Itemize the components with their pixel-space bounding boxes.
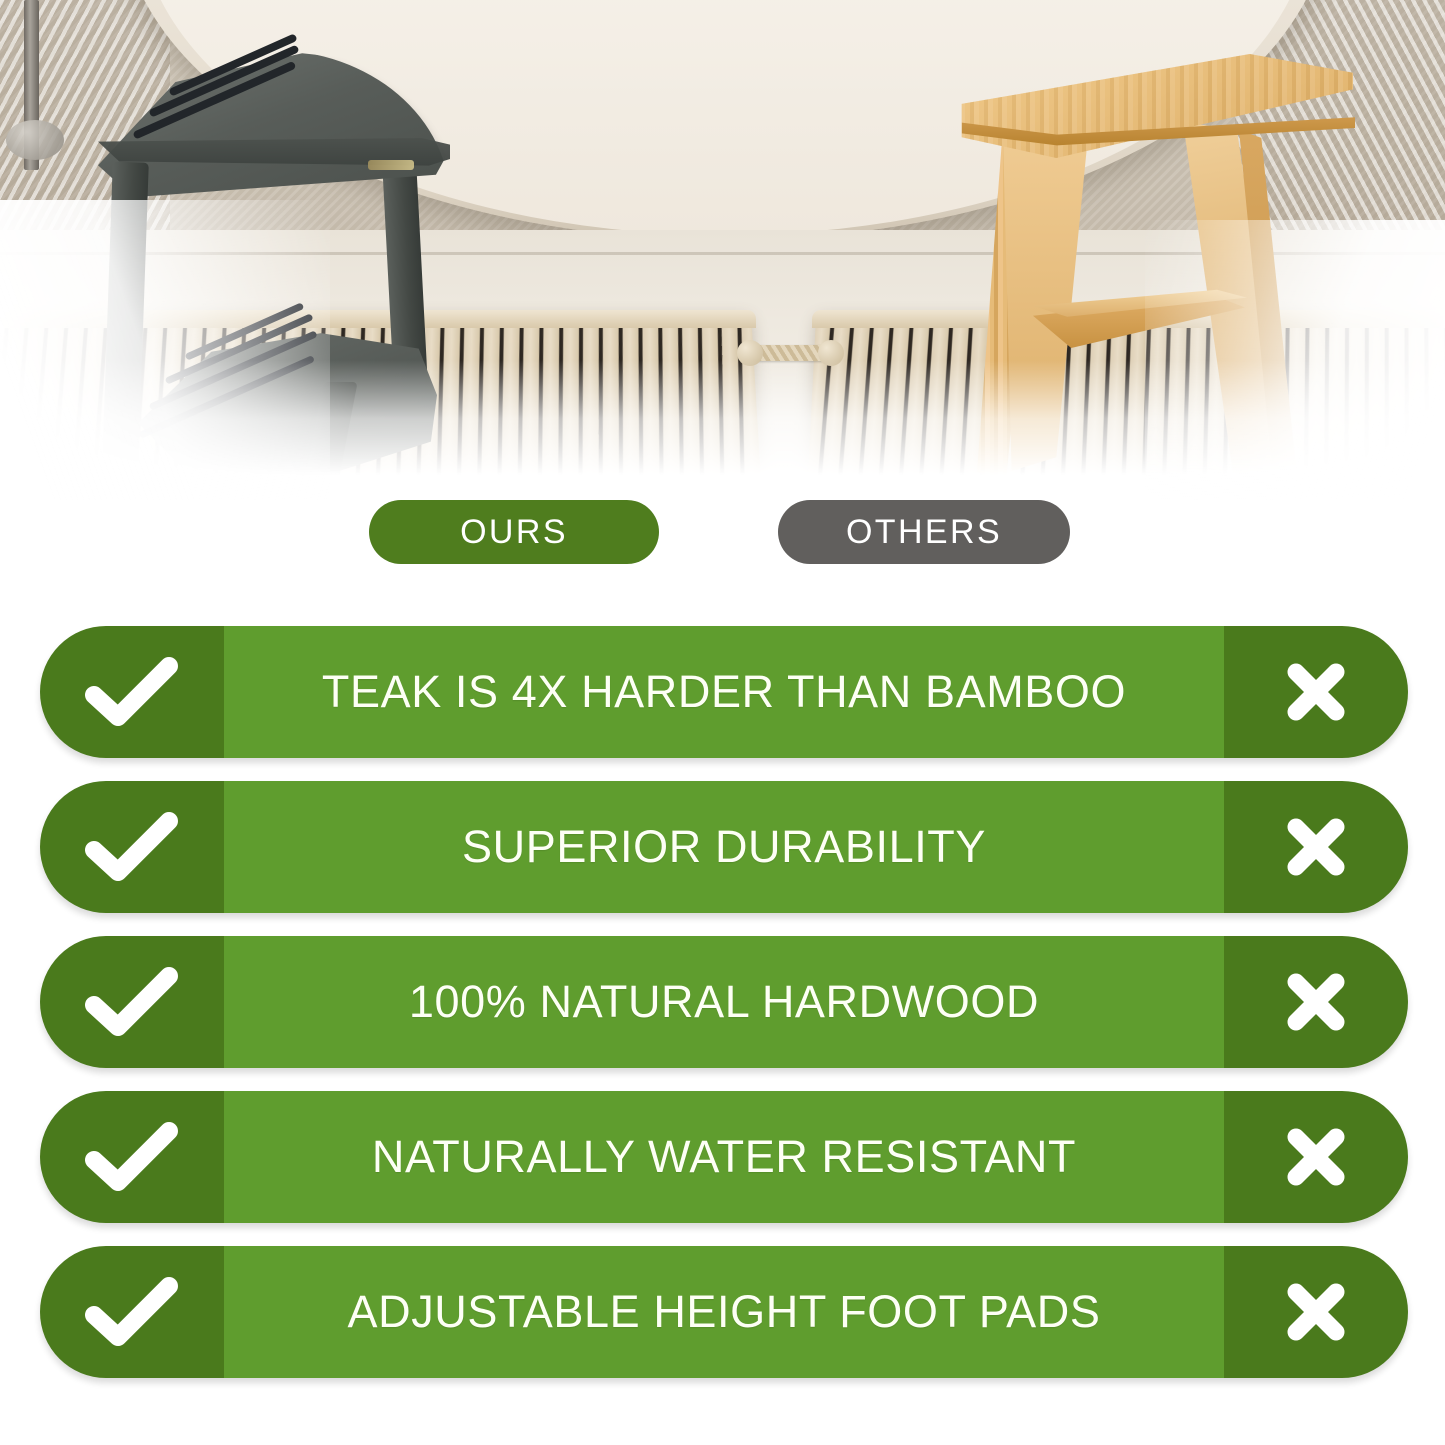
comparison-infographic: OURS OTHERS TEAK IS 4X HARDER THAN BAMBO… <box>0 0 1445 1445</box>
feature-label: 100% NATURAL HARDWOOD <box>409 976 1039 1028</box>
badge-others: OTHERS <box>778 500 1070 564</box>
check-icon <box>84 1274 180 1350</box>
cell-feature: ADJUSTABLE HEIGHT FOOT PADS <box>224 1246 1224 1378</box>
cell-others <box>1224 1246 1408 1378</box>
cross-icon <box>1280 811 1352 883</box>
table-row: 100% NATURAL HARDWOOD <box>40 936 1408 1068</box>
badge-ours-label: OURS <box>460 513 568 552</box>
scene-right-fade <box>1145 220 1445 500</box>
column-badges: OURS OTHERS <box>0 500 1445 572</box>
product-photo-scene <box>0 0 1445 500</box>
cell-others <box>1224 1091 1408 1223</box>
bench-brand-plate <box>368 160 414 170</box>
cell-ours <box>40 1246 224 1378</box>
check-icon <box>84 654 180 730</box>
table-row: TEAK IS 4X HARDER THAN BAMBOO <box>40 626 1408 758</box>
table-row: ADJUSTABLE HEIGHT FOOT PADS <box>40 1246 1408 1378</box>
cell-ours <box>40 936 224 1068</box>
table-row: SUPERIOR DURABILITY <box>40 781 1408 913</box>
cell-others <box>1224 936 1408 1068</box>
cross-icon <box>1280 656 1352 728</box>
check-icon <box>84 1119 180 1195</box>
mat-rope-tie <box>752 345 828 361</box>
badge-others-label: OTHERS <box>846 513 1002 552</box>
cell-feature: TEAK IS 4X HARDER THAN BAMBOO <box>224 626 1224 758</box>
stool-seat-sheen <box>923 54 1353 158</box>
cell-ours <box>40 781 224 913</box>
cell-feature: SUPERIOR DURABILITY <box>224 781 1224 913</box>
feature-label: ADJUSTABLE HEIGHT FOOT PADS <box>347 1286 1100 1338</box>
cell-ours <box>40 1091 224 1223</box>
cell-feature: NATURALLY WATER RESISTANT <box>224 1091 1224 1223</box>
feature-label: SUPERIOR DURABILITY <box>462 821 986 873</box>
table-row: NATURALLY WATER RESISTANT <box>40 1091 1408 1223</box>
cross-icon <box>1280 966 1352 1038</box>
feature-label: TEAK IS 4X HARDER THAN BAMBOO <box>322 666 1126 718</box>
check-icon <box>84 809 180 885</box>
scene-left-fade <box>0 200 330 500</box>
feature-label: NATURALLY WATER RESISTANT <box>372 1131 1076 1183</box>
cross-icon <box>1280 1276 1352 1348</box>
badge-ours: OURS <box>369 500 659 564</box>
shower-head <box>6 120 64 160</box>
cell-others <box>1224 781 1408 913</box>
cross-icon <box>1280 1121 1352 1193</box>
cell-others <box>1224 626 1408 758</box>
cell-feature: 100% NATURAL HARDWOOD <box>224 936 1224 1068</box>
cell-ours <box>40 626 224 758</box>
check-icon <box>84 964 180 1040</box>
comparison-rows: TEAK IS 4X HARDER THAN BAMBOO SUPERIOR D… <box>40 626 1408 1401</box>
